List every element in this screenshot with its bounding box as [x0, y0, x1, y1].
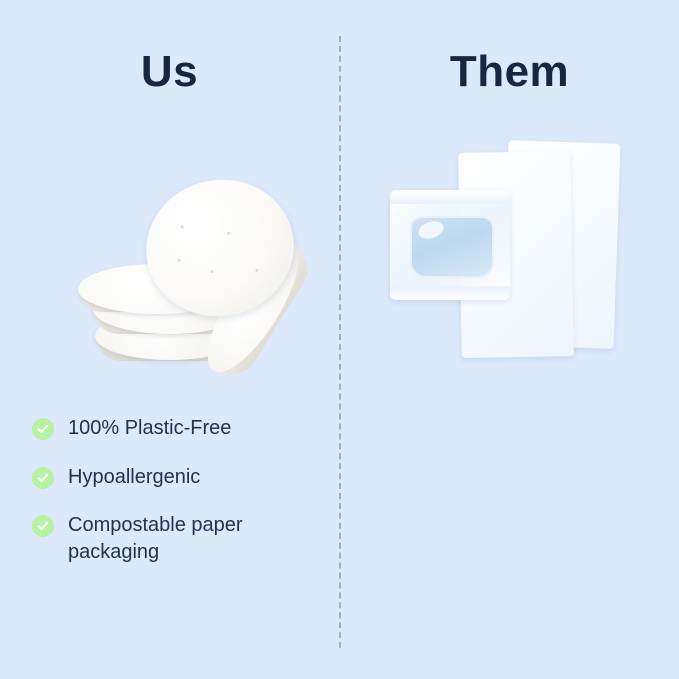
list-item: Compostable paper packaging — [32, 512, 332, 565]
plastic-pod — [390, 190, 510, 300]
column-title-them: Them — [340, 50, 679, 94]
column-title-us: Us — [0, 50, 339, 94]
list-item-label: 100% Plastic-Free — [68, 415, 231, 442]
column-us: Us — [0, 0, 339, 679]
plastic-products-illustration — [340, 130, 679, 400]
check-icon — [32, 467, 54, 489]
comparison-graphic: Us — [0, 0, 679, 679]
column-them: Them Made with plastic C — [340, 0, 679, 679]
tablets-illustration — [0, 130, 339, 400]
list-item-label: Compostable paper packaging — [68, 512, 330, 565]
pod-seal-bottom — [390, 286, 510, 300]
check-icon — [32, 515, 54, 537]
check-icon — [32, 418, 54, 440]
tablet-speck — [255, 269, 259, 273]
list-item: 100% Plastic-Free — [32, 415, 332, 442]
benefits-list-us: 100% Plastic-Free Hypoallergenic Compost… — [32, 415, 332, 587]
pod-seal-top — [390, 190, 510, 204]
tablet-stack — [60, 160, 320, 400]
tablet-speck — [210, 270, 214, 274]
tablet-speck — [177, 258, 181, 262]
list-item-label: Hypoallergenic — [68, 464, 200, 491]
tablet-speck — [227, 232, 231, 236]
list-item: Hypoallergenic — [32, 464, 332, 491]
tablet-speck — [181, 225, 185, 229]
